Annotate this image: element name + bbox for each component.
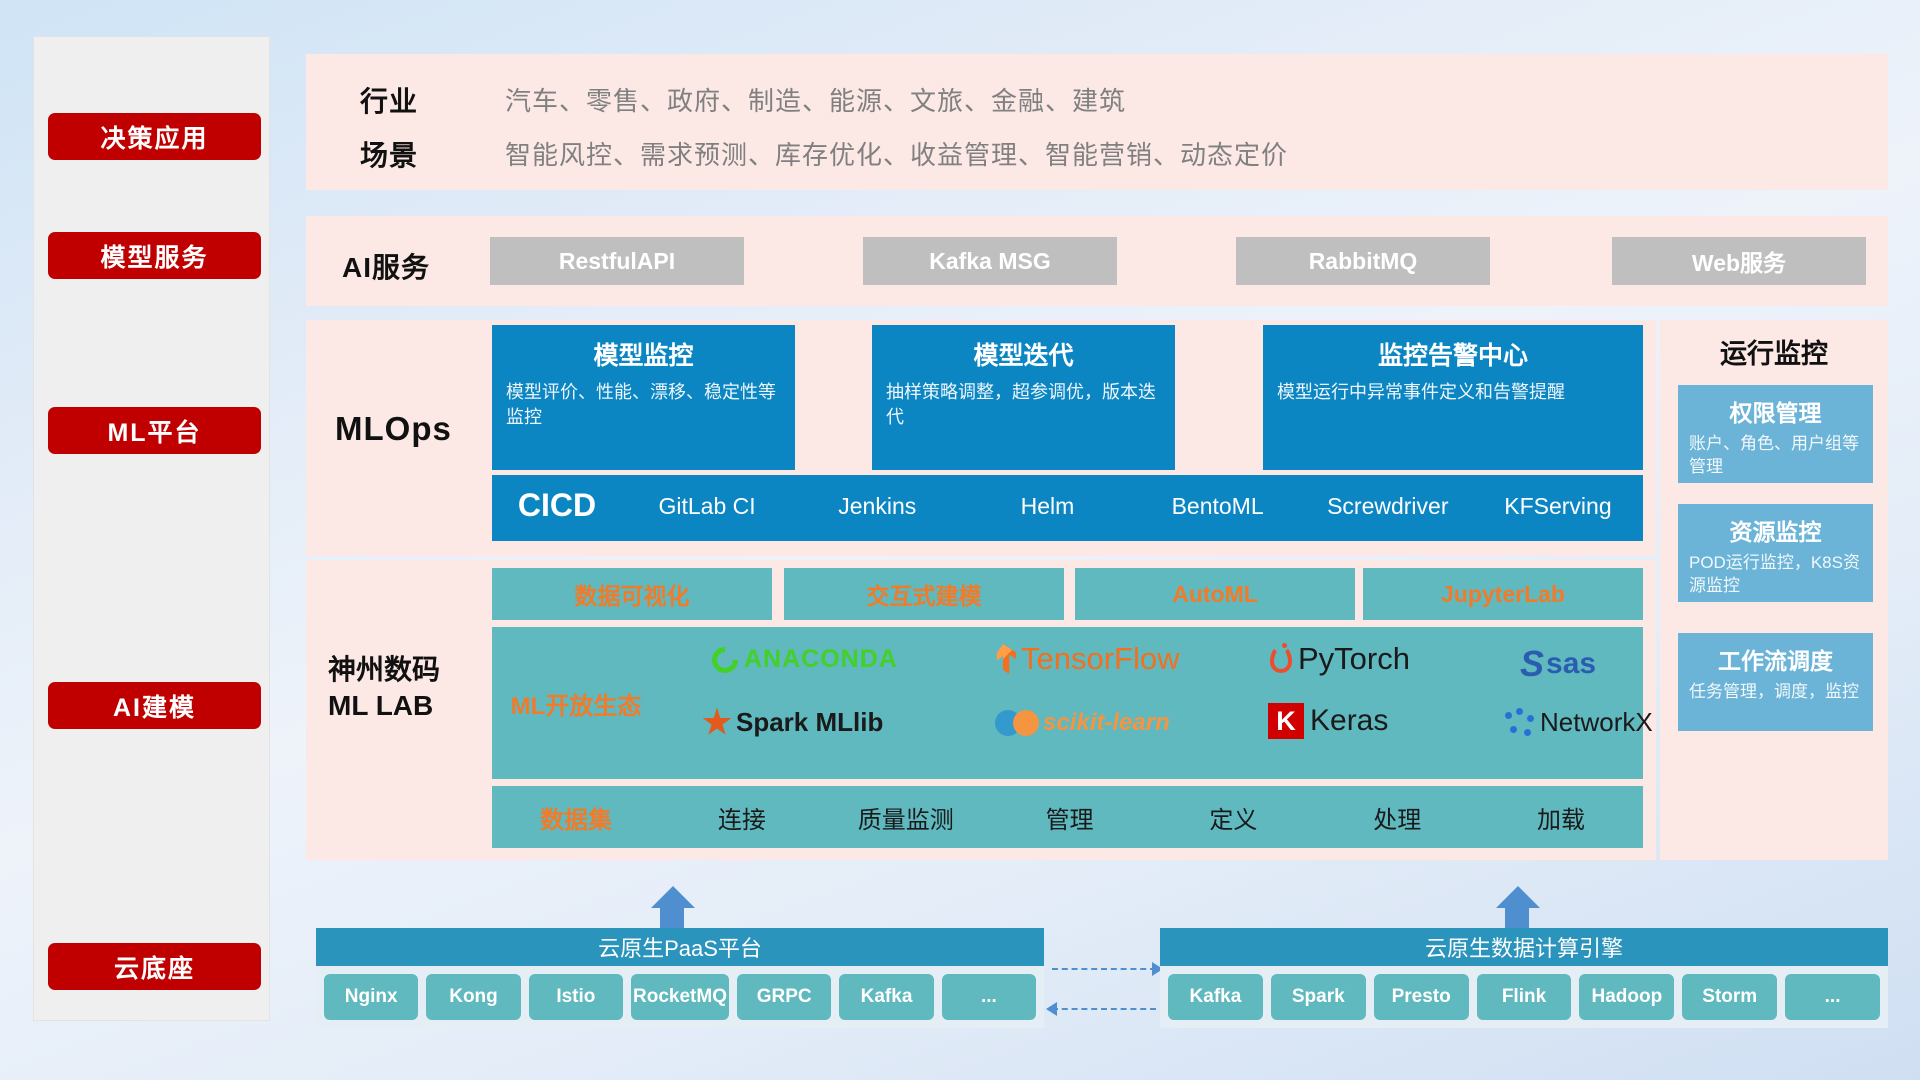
cicd-item-bentoml[interactable]: BentoML: [1133, 475, 1303, 521]
dataset-item-define[interactable]: 定义: [1151, 800, 1315, 835]
paas-item-more[interactable]: ...: [942, 974, 1036, 1020]
spark-mllib-logo: Spark MLlib: [702, 707, 883, 738]
paas-up-arrow-stem: [660, 908, 684, 930]
sidebar-item-label: 模型服务: [100, 238, 208, 274]
sidebar-item-cloud-base[interactable]: 云底座: [48, 943, 261, 990]
compute-engine-items: Kafka Spark Presto Flink Hadoop Storm ..…: [1160, 966, 1888, 1022]
run-monitor-card-resource[interactable]: 资源监控 POD运行监控，K8S资源监控: [1678, 504, 1873, 602]
dataset-item-connect[interactable]: 连接: [660, 800, 824, 835]
sas-logo: S sas: [1520, 643, 1596, 685]
cicd-item-screwdriver[interactable]: Screwdriver: [1303, 475, 1473, 521]
sidebar-item-decision-app[interactable]: 决策应用: [48, 113, 261, 160]
sidebar-item-ai-modeling[interactable]: AI建模: [48, 682, 261, 729]
industry-list: 汽车、零售、政府、制造、能源、文旅、金融、建筑: [505, 81, 1126, 118]
paas-platform-title: 云原生PaaS平台: [316, 928, 1044, 966]
dataset-item-load[interactable]: 加载: [1479, 800, 1643, 835]
sidebar-item-label: 决策应用: [100, 119, 208, 155]
keras-logo-text: Keras: [1310, 704, 1388, 738]
run-monitor-title: 运行监控: [1660, 332, 1888, 371]
card-title: 权限管理: [1689, 394, 1862, 428]
compute-to-paas-arrowhead: [1046, 1002, 1057, 1016]
compute-item-spark[interactable]: Spark: [1271, 974, 1366, 1020]
paas-item-grpc[interactable]: GRPC: [737, 974, 831, 1020]
compute-item-flink[interactable]: Flink: [1477, 974, 1572, 1020]
paas-item-kafka[interactable]: Kafka: [839, 974, 933, 1020]
paas-to-compute-dashed-line: [1052, 968, 1156, 970]
run-monitor-card-permission[interactable]: 权限管理 账户、角色、用户组等管理: [1678, 385, 1873, 483]
compute-item-storm[interactable]: Storm: [1682, 974, 1777, 1020]
ml-lab-label: 神州数码 ML LAB: [328, 652, 478, 725]
layer-rail: [33, 36, 270, 1021]
sas-logo-text: sas: [1546, 647, 1596, 681]
ml-ecosystem-logos: ANACONDA TensorFlow PyTorch S sas Spark …: [660, 627, 1643, 779]
card-desc: 抽样策略调整，超参调优，版本迭代: [886, 380, 1161, 430]
ai-service-label: AI服务: [342, 246, 430, 286]
dataset-bar: 数据集 连接 质量监测 管理 定义 处理 加载: [492, 786, 1643, 848]
anaconda-ring-icon: [707, 641, 744, 678]
cicd-label: CICD: [492, 475, 622, 524]
keras-k-icon: K: [1268, 703, 1304, 739]
sidebar-item-label: 云底座: [114, 949, 195, 985]
sidebar-item-model-service[interactable]: 模型服务: [48, 232, 261, 279]
anaconda-logo: ANACONDA: [712, 645, 898, 674]
ai-service-chip-rabbitmq[interactable]: RabbitMQ: [1236, 237, 1490, 285]
card-title: 资源监控: [1689, 513, 1862, 547]
pytorch-logo-text: PyTorch: [1298, 641, 1410, 677]
compute-up-arrow-head: [1496, 886, 1540, 908]
compute-to-paas-dashed-line: [1052, 1008, 1156, 1010]
ai-service-chip-kafka-msg[interactable]: Kafka MSG: [863, 237, 1117, 285]
dataset-item-process[interactable]: 处理: [1315, 800, 1479, 835]
cicd-item-jenkins[interactable]: Jenkins: [792, 475, 962, 521]
card-title: 模型监控: [506, 336, 781, 372]
dataset-item-quality[interactable]: 质量监测: [824, 800, 988, 835]
keras-logo: K Keras: [1268, 703, 1388, 739]
mlops-label: MLOps: [335, 410, 452, 448]
tool-chip-automl[interactable]: AutoML: [1075, 568, 1355, 620]
card-title: 工作流调度: [1689, 642, 1862, 676]
paas-up-arrow-head: [651, 886, 695, 908]
card-desc: POD运行监控，K8S资源监控: [1689, 552, 1862, 598]
dataset-label: 数据集: [492, 800, 660, 835]
paas-item-istio[interactable]: Istio: [529, 974, 623, 1020]
paas-platform-items: Nginx Kong Istio RocketMQ GRPC Kafka ...: [316, 966, 1044, 1022]
sas-s-icon: S: [1520, 643, 1544, 685]
industry-label: 行业: [360, 80, 418, 120]
ml-lab-label-line1: 神州数码: [328, 652, 478, 688]
scikit-dots-icon: [995, 710, 1039, 736]
tensorflow-logo: TensorFlow: [990, 641, 1180, 677]
compute-up-arrow-stem: [1505, 908, 1529, 930]
scenario-label: 场景: [360, 134, 418, 174]
spark-star-icon: [702, 708, 732, 738]
compute-item-kafka[interactable]: Kafka: [1168, 974, 1263, 1020]
architecture-diagram: 决策应用 模型服务 ML平台 AI建模 云底座 行业 汽车、零售、政府、制造、能…: [0, 0, 1920, 1080]
cicd-bar: CICD GitLab CI Jenkins Helm BentoML Scre…: [492, 475, 1643, 541]
compute-item-presto[interactable]: Presto: [1374, 974, 1469, 1020]
scikit-learn-logo-text: scikit-learn: [1043, 709, 1170, 737]
networkx-logo: NetworkX: [1505, 707, 1653, 738]
mlops-card-alert-center[interactable]: 监控告警中心 模型运行中异常事件定义和告警提醒: [1263, 325, 1643, 470]
networkx-logo-text: NetworkX: [1540, 707, 1653, 738]
cicd-item-helm[interactable]: Helm: [962, 475, 1132, 521]
card-title: 模型迭代: [886, 336, 1161, 372]
scenario-list: 智能风控、需求预测、库存优化、收益管理、智能营销、动态定价: [505, 135, 1288, 172]
mlops-card-model-monitor[interactable]: 模型监控 模型评价、性能、漂移、稳定性等监控: [492, 325, 795, 470]
card-desc: 任务管理，调度，监控: [1689, 681, 1862, 704]
ai-service-chip-web-service[interactable]: Web服务: [1612, 237, 1866, 285]
tool-chip-data-visualization[interactable]: 数据可视化: [492, 568, 772, 620]
compute-item-hadoop[interactable]: Hadoop: [1579, 974, 1674, 1020]
tool-chip-interactive-modeling[interactable]: 交互式建模: [784, 568, 1064, 620]
card-desc: 账户、角色、用户组等管理: [1689, 433, 1862, 479]
anaconda-logo-text: ANACONDA: [744, 645, 898, 674]
dataset-item-manage[interactable]: 管理: [988, 800, 1152, 835]
scikit-learn-logo: scikit-learn: [995, 709, 1170, 737]
card-desc: 模型运行中异常事件定义和告警提醒: [1277, 380, 1629, 405]
compute-engine-title: 云原生数据计算引擎: [1160, 928, 1888, 966]
tool-chip-jupyterlab[interactable]: JupyterLab: [1363, 568, 1643, 620]
cicd-item-gitlab-ci[interactable]: GitLab CI: [622, 475, 792, 521]
tensorflow-logo-text: TensorFlow: [1021, 641, 1180, 677]
paas-item-rocketmq[interactable]: RocketMQ: [631, 974, 729, 1020]
card-title: 监控告警中心: [1277, 336, 1629, 372]
mlops-card-model-iteration[interactable]: 模型迭代 抽样策略调整，超参调优，版本迭代: [872, 325, 1175, 470]
paas-platform-panel: 云原生PaaS平台 Nginx Kong Istio RocketMQ GRPC…: [316, 928, 1044, 1028]
sidebar-item-label: AI建模: [113, 688, 196, 724]
tensorflow-mark-icon: [990, 644, 1016, 674]
paas-item-kong[interactable]: Kong: [426, 974, 520, 1020]
card-desc: 模型评价、性能、漂移、稳定性等监控: [506, 380, 781, 430]
ml-lab-label-line2: ML LAB: [328, 688, 478, 724]
sidebar-item-ml-platform[interactable]: ML平台: [48, 407, 261, 454]
ml-ecosystem-box: ML开放生态 ANACONDA TensorFlow PyTorch S sas…: [492, 627, 1643, 779]
paas-item-nginx[interactable]: Nginx: [324, 974, 418, 1020]
pytorch-logo: PyTorch: [1270, 641, 1410, 677]
spark-mllib-logo-text: Spark MLlib: [736, 707, 883, 738]
pytorch-flame-icon: [1270, 645, 1292, 673]
networkx-graph-icon: [1505, 708, 1535, 738]
run-monitor-card-workflow[interactable]: 工作流调度 任务管理，调度，监控: [1678, 633, 1873, 731]
cicd-item-kfserving[interactable]: KFServing: [1473, 475, 1643, 521]
compute-item-more[interactable]: ...: [1785, 974, 1880, 1020]
ml-ecosystem-label: ML开放生态: [492, 686, 660, 721]
ai-service-chip-restfulapi[interactable]: RestfulAPI: [490, 237, 744, 285]
sidebar-item-label: ML平台: [107, 413, 201, 449]
compute-engine-panel: 云原生数据计算引擎 Kafka Spark Presto Flink Hadoo…: [1160, 928, 1888, 1028]
